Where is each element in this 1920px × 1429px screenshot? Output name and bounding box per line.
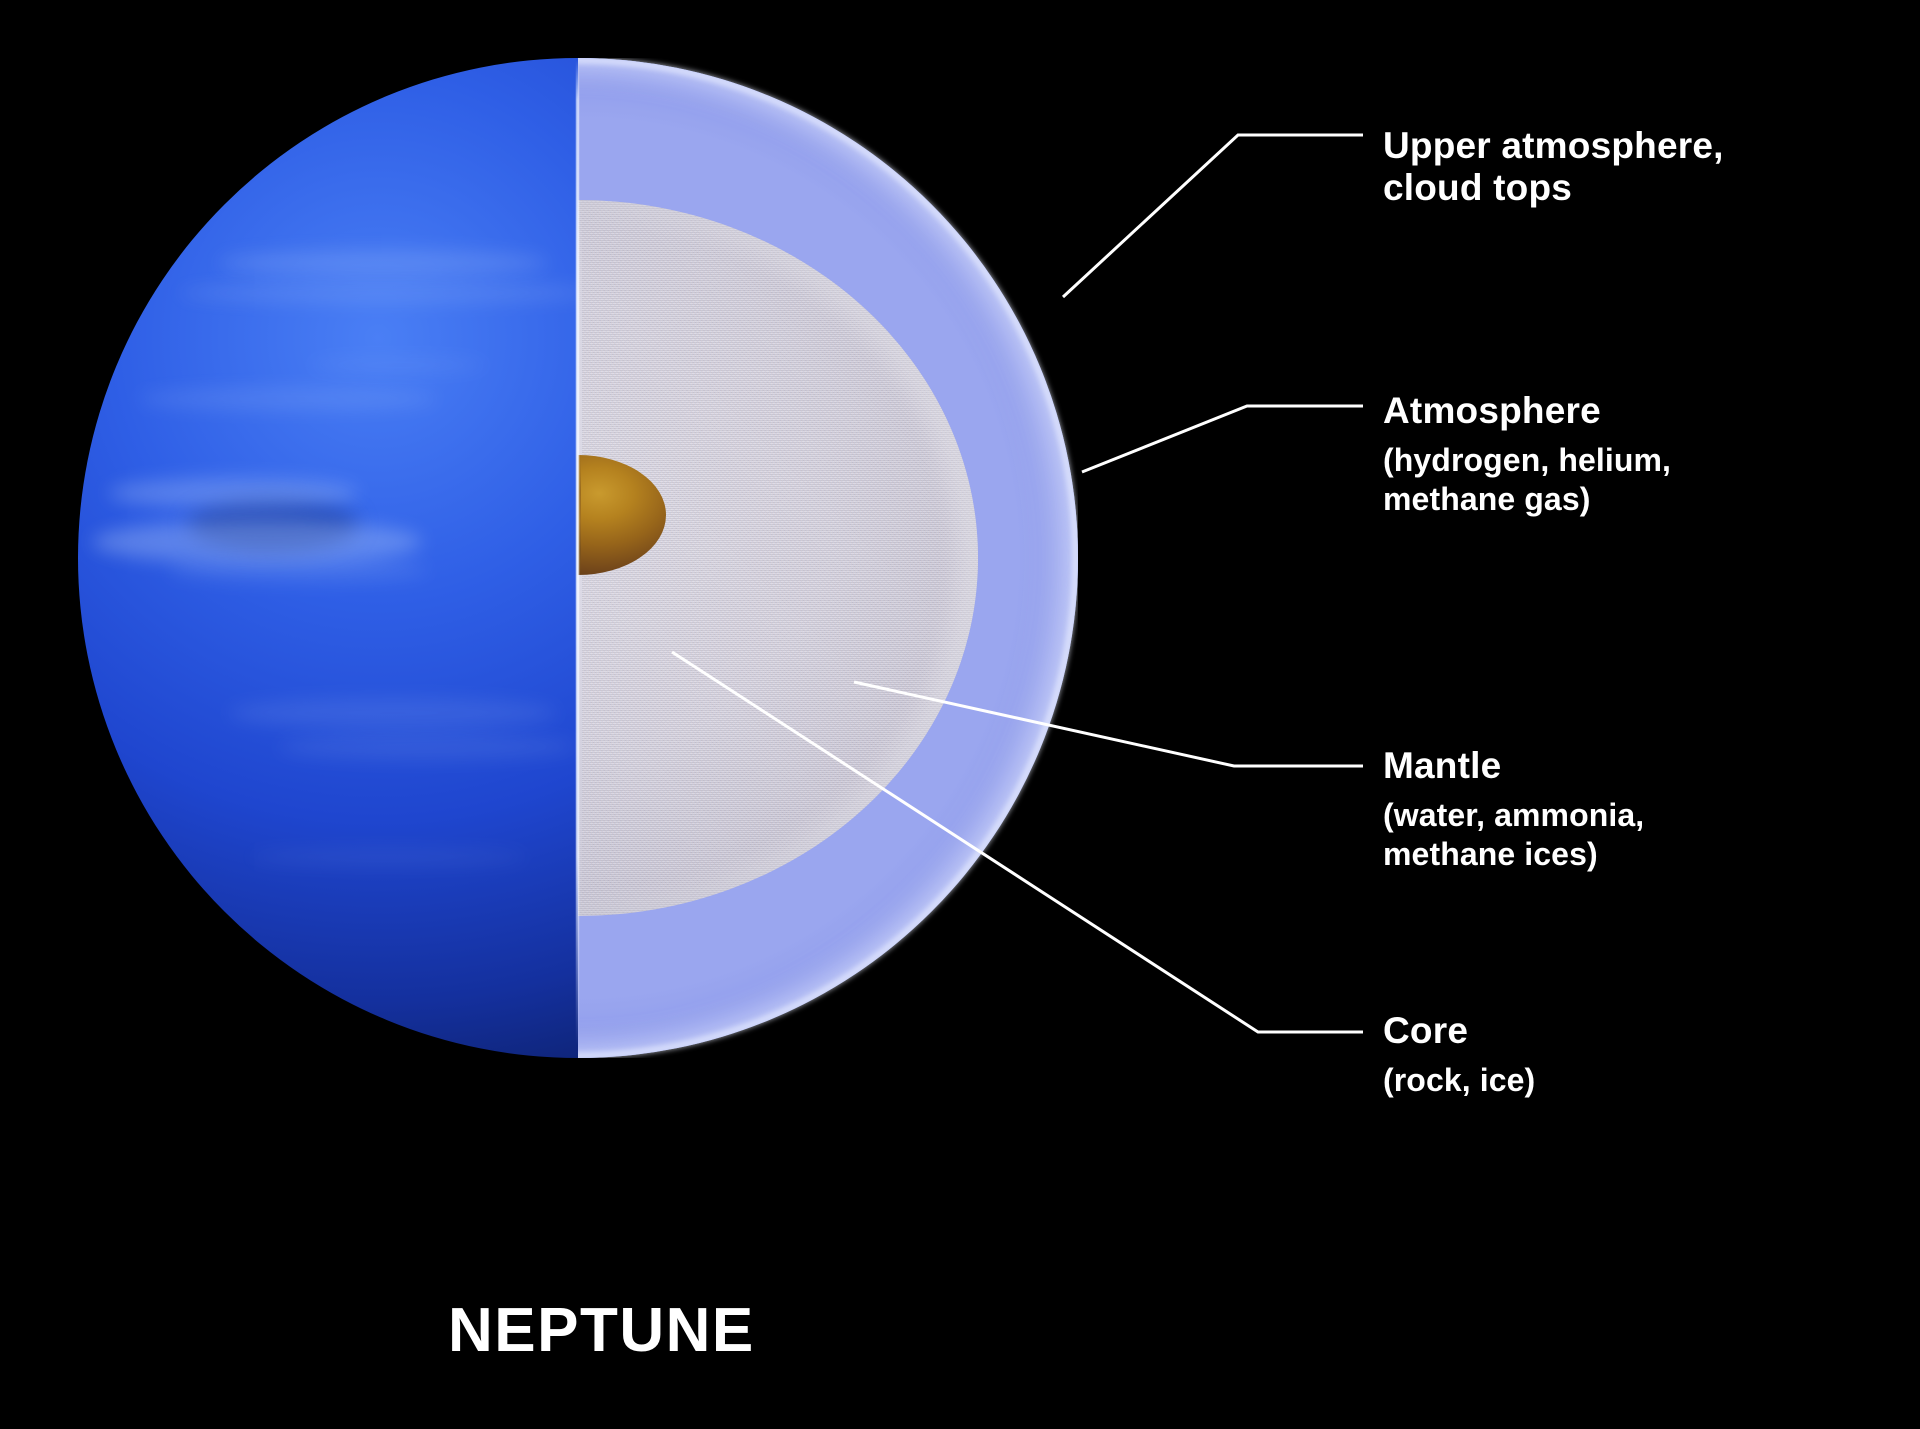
label-upper-atmosphere-title: Upper atmosphere, cloud tops <box>1383 125 1863 209</box>
label-upper-atmosphere: Upper atmosphere, cloud tops <box>1383 125 1863 209</box>
cloud-band <box>248 848 528 866</box>
cloud-band <box>228 698 558 728</box>
cloud-band <box>278 734 578 760</box>
cloud-band <box>138 388 438 410</box>
cloud-band <box>308 358 488 372</box>
cloud-band <box>92 520 422 564</box>
label-mantle-title: Mantle <box>1383 745 1863 787</box>
label-mantle: Mantle (water, ammonia, methane ices) <box>1383 745 1863 874</box>
label-core-subtitle: (rock, ice) <box>1383 1061 1863 1100</box>
cloud-band <box>168 558 428 582</box>
label-core-title: Core <box>1383 1010 1863 1052</box>
core-layer <box>578 455 668 575</box>
cloud-band <box>108 478 358 508</box>
cloud-band <box>178 283 598 303</box>
planet-cutaway-illustration <box>0 0 1200 1300</box>
label-core: Core (rock, ice) <box>1383 1010 1863 1100</box>
label-atmosphere: Atmosphere (hydrogen, helium, methane ga… <box>1383 390 1863 519</box>
core-body <box>578 455 666 575</box>
label-atmosphere-title: Atmosphere <box>1383 390 1863 432</box>
label-atmosphere-subtitle: (hydrogen, helium, methane gas) <box>1383 441 1863 519</box>
neptune-interior-diagram: Upper atmosphere, cloud tops Atmosphere … <box>0 0 1920 1429</box>
cutaway-plane-line <box>576 60 579 1056</box>
label-mantle-subtitle: (water, ammonia, methane ices) <box>1383 796 1863 874</box>
cloud-band <box>218 250 548 276</box>
planet-name-title: NEPTUNE <box>448 1300 755 1362</box>
